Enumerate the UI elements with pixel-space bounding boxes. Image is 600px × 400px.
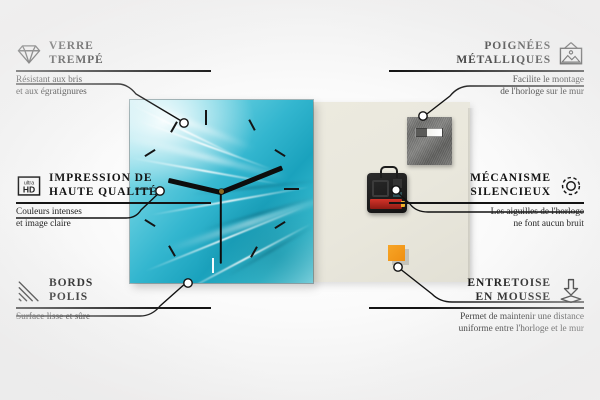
feature-poignees-metalliques: POIGNÉES MÉTALLIQUES Facilite le montage…: [389, 40, 584, 98]
feature-title: IMPRESSION DE HAUTE QUALITÉ: [49, 172, 158, 199]
callout-dot-verre-trempe: [180, 119, 188, 127]
callout-dot-poignees: [419, 112, 427, 120]
gear-icon: [558, 173, 584, 199]
divider: [389, 70, 584, 72]
infographic-canvas: VERRE TREMPÉ Résistant aux bris et aux é…: [0, 0, 600, 400]
callout-dot-entretoise: [394, 263, 402, 271]
feature-title: MÉCANISME SILENCIEUX: [470, 172, 551, 199]
feature-subtitle: Résistant aux bris et aux égratignures: [16, 74, 211, 98]
feature-title: VERRE TREMPÉ: [49, 40, 104, 67]
feature-subtitle: Facilite le montage de l'horloge sur le …: [389, 74, 584, 98]
feature-impression-hd: ultra HD IMPRESSION DE HAUTE QUALITÉ Cou…: [16, 172, 211, 230]
feature-subtitle: Couleurs intenses et image claire: [16, 206, 211, 230]
feature-subtitle: Permet de maintenir une distance uniform…: [369, 311, 584, 335]
feature-entretoise-en-mousse: ENTRETOISE EN MOUSSE Permet de maintenir…: [369, 277, 584, 335]
feature-title: ENTRETOISE EN MOUSSE: [467, 277, 551, 304]
feature-bords-polis: BORDS POLIS Surface lisse et sûre: [16, 277, 211, 323]
svg-text:HD: HD: [23, 184, 35, 194]
spacer-arrow-icon: [558, 278, 584, 304]
feature-mecanisme-silencieux: MÉCANISME SILENCIEUX Les aiguilles de l'…: [389, 172, 584, 230]
divider: [369, 307, 584, 309]
divider: [16, 307, 211, 309]
feature-subtitle: Les aiguilles de l'horloge ne font aucun…: [389, 206, 584, 230]
diamond-icon: [16, 41, 42, 67]
wall-frame-icon: [558, 41, 584, 67]
divider: [389, 202, 584, 204]
feature-subtitle: Surface lisse et sûre: [16, 311, 211, 323]
polished-edge-icon: [16, 278, 42, 304]
feature-title: BORDS POLIS: [49, 277, 93, 304]
feature-title: POIGNÉES MÉTALLIQUES: [456, 40, 551, 67]
ultra-hd-icon: ultra HD: [16, 173, 42, 199]
divider: [16, 202, 211, 204]
feature-verre-trempe: VERRE TREMPÉ Résistant aux bris et aux é…: [16, 40, 211, 98]
divider: [16, 70, 211, 72]
